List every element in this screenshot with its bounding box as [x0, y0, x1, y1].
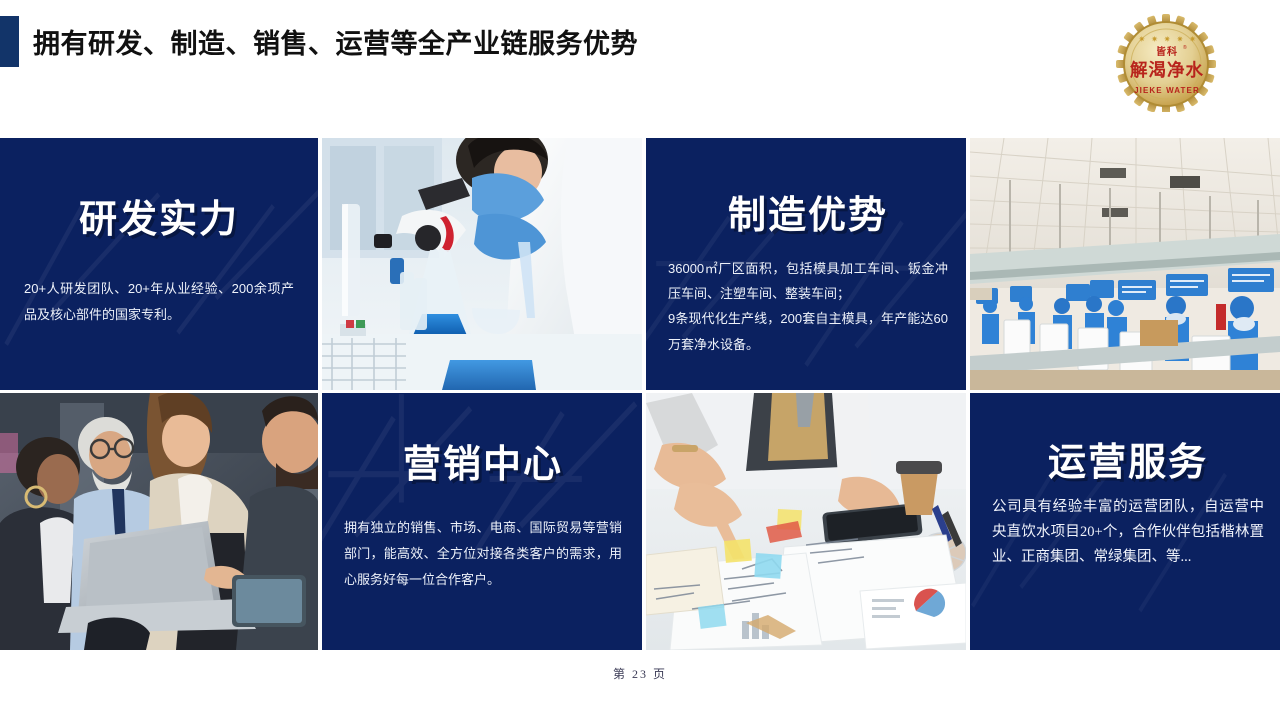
card-operations-title: 运营服务: [992, 443, 1264, 485]
card-operations-body: 公司具有经验丰富的运营团队，自运营中央直饮水项目20+个，合作伙伴包括楷林置业、…: [992, 495, 1264, 570]
card-marketing[interactable]: 营销中心 拥有独立的销售、市场、电商、国际贸易等营销部门，能高效、全方位对接各类…: [322, 393, 642, 650]
laboratory-researcher-photo: [322, 138, 642, 390]
logo-stars: ✷ ✷ ✷ ✷ ✷: [1138, 34, 1197, 44]
logo-registered-mark: ®: [1183, 44, 1187, 51]
page-title: 拥有研发、制造、销售、运营等全产业链服务优势: [33, 22, 638, 61]
photo-meeting[interactable]: [0, 393, 318, 650]
card-manufacturing-title: 制造优势: [668, 196, 948, 238]
logo-brand-main: 解渴净水: [1130, 60, 1204, 80]
card-operations[interactable]: 运营服务 公司具有经验丰富的运营团队，自运营中央直饮水项目20+个，合作伙伴包括…: [970, 393, 1280, 650]
feature-grid: 研发实力 20+人研发团队、20+年从业经验、200余项产品及核心部件的国家专利…: [0, 138, 1280, 650]
logo-bottlecap-icon: ✷ ✷ ✷ ✷ ✷ 皆科 ® 解渴净水 JIEKE WATER: [1116, 14, 1220, 112]
card-rd-title: 研发实力: [24, 200, 294, 242]
photo-factory[interactable]: [970, 138, 1280, 390]
card-rd[interactable]: 研发实力 20+人研发团队、20+年从业经验、200余项产品及核心部件的国家专利…: [0, 138, 318, 390]
logo-brand-small: 皆科: [1156, 45, 1178, 58]
logo-brand-en: JIEKE WATER: [1134, 86, 1200, 95]
card-marketing-title: 营销中心: [344, 445, 622, 487]
card-manufacturing[interactable]: 制造优势 36000㎡厂区面积，包括模具加工车间、钣金冲压车间、注塑车间、整装车…: [646, 138, 966, 390]
brainstorming-desk-photo: [646, 393, 966, 650]
card-marketing-body: 拥有独立的销售、市场、电商、国际贸易等营销部门，能高效、全方位对接各类客户的需求…: [344, 515, 622, 593]
page-number: 第 23 页: [0, 665, 1280, 682]
photo-desk[interactable]: [646, 393, 966, 650]
card-manufacturing-body: 36000㎡厂区面积，包括模具加工车间、钣金冲压车间、注塑车间、整装车间； 9条…: [668, 256, 948, 357]
slide-header: 拥有研发、制造、销售、运营等全产业链服务优势: [0, 0, 1280, 128]
business-team-meeting-photo: [0, 393, 318, 650]
photo-laboratory[interactable]: [322, 138, 642, 390]
jieke-water-logo: ✷ ✷ ✷ ✷ ✷ 皆科 ® 解渴净水 JIEKE WATER: [1116, 14, 1220, 112]
factory-assembly-line-photo: [970, 138, 1280, 390]
card-rd-body: 20+人研发团队、20+年从业经验、200余项产品及核心部件的国家专利。: [24, 276, 294, 328]
title-accent-bar: [0, 16, 19, 67]
